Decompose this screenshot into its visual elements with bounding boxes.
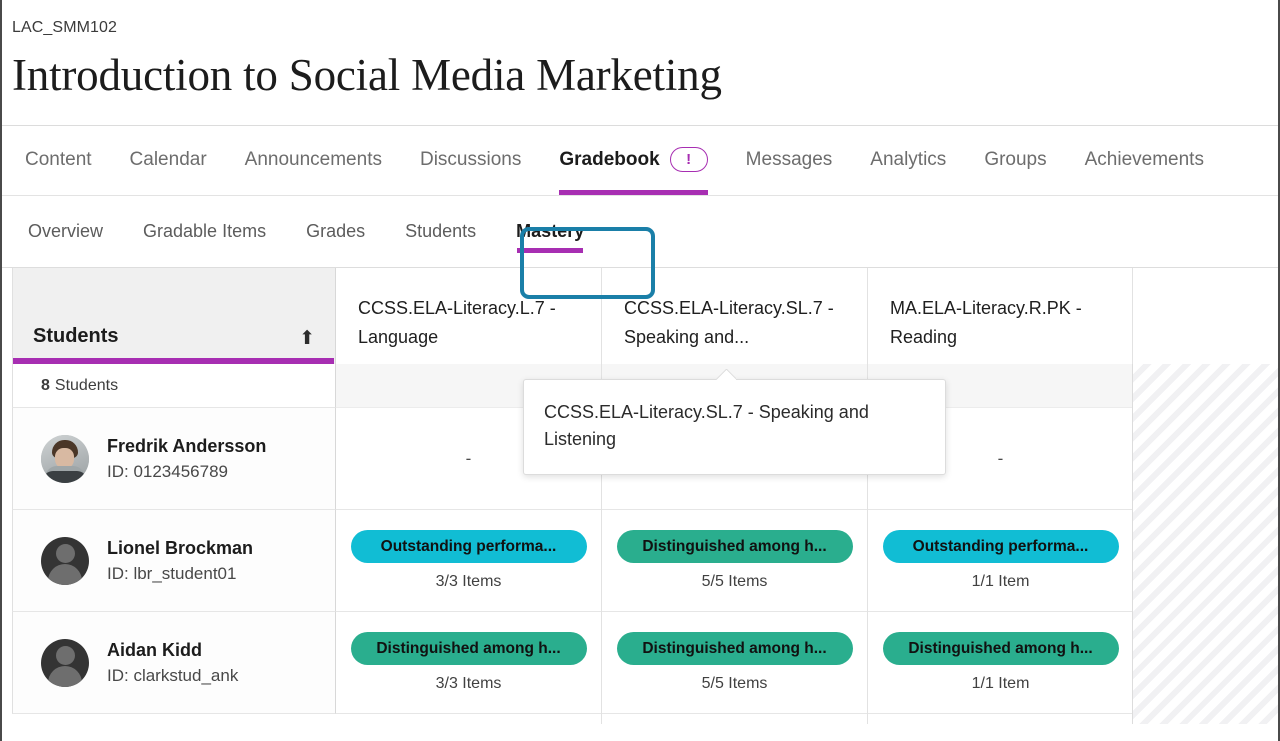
course-code: LAC_SMM102 <box>12 18 1278 37</box>
student-row[interactable]: Fredrik AnderssonID: 0123456789 <box>12 408 336 510</box>
mastery-items-count: 5/5 Items <box>702 573 768 591</box>
mastery-level-pill: Distinguished among h... <box>351 632 587 665</box>
mastery-cell[interactable]: Outstanding performa...3/3 Items <box>336 510 601 612</box>
mastery-cell[interactable]: Outstanding performa...1/1 Item <box>868 510 1133 612</box>
student-name: Aidan Kidd <box>107 638 238 662</box>
standard-column: CCSS.ELA-Literacy.L.7 - Language-Outstan… <box>336 268 602 724</box>
nav-active-underline <box>559 190 707 195</box>
students-header-label: Students <box>33 325 119 348</box>
avatar <box>41 537 89 585</box>
student-row[interactable]: Aidan KiddID: clarkstud_ank <box>12 612 336 714</box>
sort-ascending-arrow-icon[interactable]: ⬆ <box>299 329 315 348</box>
no-data-dash: - <box>998 449 1004 469</box>
empty-column-header-area <box>1132 268 1278 364</box>
primary-navigation: ContentCalendarAnnouncementsDiscussionsG… <box>2 125 1278 196</box>
students-count-label: Students <box>55 377 118 395</box>
students-column-header[interactable]: Students ⬆ <box>12 268 336 364</box>
tab-label: Grades <box>306 221 365 242</box>
avatar <box>41 639 89 687</box>
tab-active-underline <box>517 248 583 253</box>
mastery-level-pill: Outstanding performa... <box>883 530 1119 563</box>
nav-item-label: Analytics <box>870 149 946 171</box>
tab-label: Students <box>405 221 476 242</box>
nav-item-label: Discussions <box>420 149 521 171</box>
tab-overview[interactable]: Overview <box>28 196 103 267</box>
tooltip-text: CCSS.ELA-Literacy.SL.7 - Speaking and Li… <box>544 402 869 449</box>
tab-mastery[interactable]: Mastery <box>516 196 584 267</box>
tab-grades[interactable]: Grades <box>306 196 365 267</box>
students-count-row: 8 Students <box>12 364 336 408</box>
gradebook-sub-navigation: OverviewGradable ItemsGradesStudentsMast… <box>2 196 1278 268</box>
nav-item-groups[interactable]: Groups <box>984 126 1046 195</box>
nav-item-messages[interactable]: Messages <box>746 126 833 195</box>
nav-item-label: Gradebook <box>559 149 659 171</box>
mastery-grid: Students ⬆ 8 Students Fredrik AnderssonI… <box>2 268 1278 724</box>
mastery-items-count: 1/1 Item <box>972 675 1030 693</box>
mastery-cell[interactable]: Distinguished among h...5/5 Items <box>602 510 867 612</box>
tab-label: Mastery <box>516 221 584 242</box>
standards-columns-area: CCSS.ELA-Literacy.L.7 - Language-Outstan… <box>336 268 1278 724</box>
mastery-items-count: 1/1 Item <box>972 573 1030 591</box>
nav-item-label: Messages <box>746 149 833 171</box>
nav-item-content[interactable]: Content <box>25 126 92 195</box>
student-id: ID: 0123456789 <box>107 460 266 484</box>
mastery-cell[interactable]: Distinguished among h...5/5 Items <box>602 612 867 714</box>
standard-column: MA.ELA-Literacy.R.PK - Reading-Outstandi… <box>868 268 1134 724</box>
avatar <box>41 435 89 483</box>
mastery-cell[interactable]: Distinguished among h...1/1 Item <box>868 612 1133 714</box>
mastery-items-count: 3/3 Items <box>436 573 502 591</box>
standard-column-header[interactable]: CCSS.ELA-Literacy.L.7 - Language <box>336 268 601 364</box>
standard-column-header[interactable]: MA.ELA-Literacy.R.PK - Reading <box>868 268 1133 364</box>
student-name: Lionel Brockman <box>107 536 253 560</box>
mastery-cell[interactable]: Distinguished among h...3/3 Items <box>336 612 601 714</box>
mastery-level-pill: Distinguished among h... <box>883 632 1119 665</box>
alert-exclamation-badge-icon: ! <box>670 147 708 172</box>
nav-item-gradebook[interactable]: Gradebook! <box>559 126 707 195</box>
page-title: Introduction to Social Media Marketing <box>12 49 1278 102</box>
students-column: Students ⬆ 8 Students Fredrik AnderssonI… <box>12 268 336 724</box>
mastery-level-pill: Distinguished among h... <box>617 632 853 665</box>
nav-item-label: Announcements <box>245 149 382 171</box>
standard-column: CCSS.ELA-Literacy.SL.7 - Speaking and...… <box>602 268 868 724</box>
nav-item-label: Groups <box>984 149 1046 171</box>
course-header: LAC_SMM102 Introduction to Social Media … <box>2 0 1278 102</box>
student-name: Fredrik Andersson <box>107 434 266 458</box>
nav-item-analytics[interactable]: Analytics <box>870 126 946 195</box>
nav-item-label: Calendar <box>130 149 207 171</box>
student-row[interactable]: Lionel BrockmanID: lbr_student01 <box>12 510 336 612</box>
nav-item-label: Achievements <box>1085 149 1204 171</box>
nav-item-announcements[interactable]: Announcements <box>245 126 382 195</box>
tab-label: Overview <box>28 221 103 242</box>
tab-students[interactable]: Students <box>405 196 476 267</box>
student-info: Lionel BrockmanID: lbr_student01 <box>107 536 253 586</box>
nav-item-label: Content <box>25 149 92 171</box>
mastery-items-count: 5/5 Items <box>702 675 768 693</box>
nav-item-achievements[interactable]: Achievements <box>1085 126 1204 195</box>
mastery-items-count: 3/3 Items <box>436 675 502 693</box>
mastery-level-pill: Outstanding performa... <box>351 530 587 563</box>
student-id: ID: lbr_student01 <box>107 562 253 586</box>
avatar-photo-part <box>43 471 87 483</box>
nav-item-discussions[interactable]: Discussions <box>420 126 521 195</box>
student-info: Fredrik AnderssonID: 0123456789 <box>107 434 266 484</box>
tooltip-caret-icon <box>716 369 736 380</box>
students-count-number: 8 <box>41 377 50 395</box>
student-id: ID: clarkstud_ank <box>107 664 238 688</box>
tab-gradable-items[interactable]: Gradable Items <box>143 196 266 267</box>
app-page: LAC_SMM102 Introduction to Social Media … <box>0 0 1280 741</box>
tab-label: Gradable Items <box>143 221 266 242</box>
nav-item-calendar[interactable]: Calendar <box>130 126 207 195</box>
column-header-tooltip: CCSS.ELA-Literacy.SL.7 - Speaking and Li… <box>523 379 946 475</box>
students-header-underline <box>13 358 334 364</box>
standard-column-header[interactable]: CCSS.ELA-Literacy.SL.7 - Speaking and... <box>602 268 867 364</box>
student-info: Aidan KiddID: clarkstud_ank <box>107 638 238 688</box>
mastery-level-pill: Distinguished among h... <box>617 530 853 563</box>
no-data-dash: - <box>466 449 472 469</box>
